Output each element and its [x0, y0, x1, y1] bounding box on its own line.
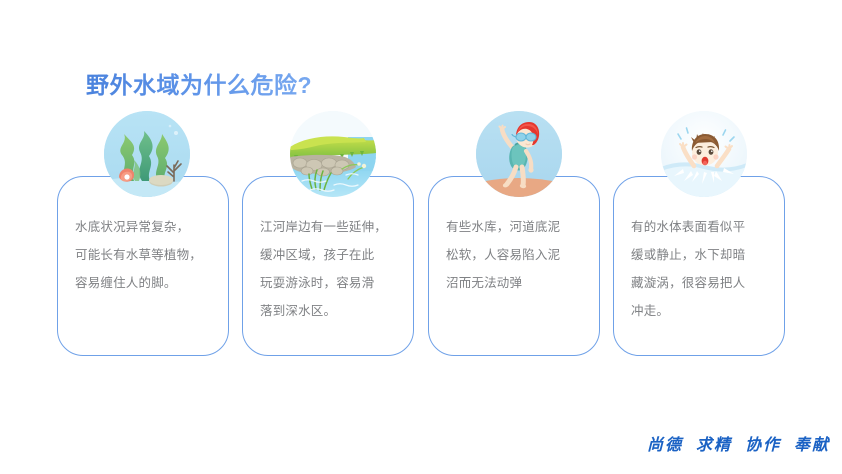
- footer-motto-word-2: 求精: [696, 437, 732, 454]
- card-riverbank-text: 江河岸边有一些延伸， 缓冲区域，孩子在此 玩耍游泳时，容易滑 落到深水区。: [260, 213, 401, 325]
- slide-canvas: 野外水域为什么危险? 水底状况异常复杂， 可能长有水草等植物， 容易缠住人的脚。: [0, 0, 842, 474]
- footer-motto-word-3: 协作: [745, 437, 781, 454]
- footer-motto-word-1: 尚德: [647, 437, 683, 454]
- diving-swimmer-icon: [476, 111, 562, 197]
- footer-motto: 尚德 求精 协作 奉献: [640, 431, 822, 457]
- card-mud-text: 有些水库，河道底泥 松软，人容易陷入泥 沼而无法动弹: [446, 213, 587, 297]
- card-mud[interactable]: 有些水库，河道底泥 松软，人容易陷入泥 沼而无法动弹: [428, 176, 600, 356]
- danger-card-list: 水底状况异常复杂， 可能长有水草等植物， 容易缠住人的脚。: [0, 0, 842, 474]
- riverbank-slope-icon: [290, 111, 376, 197]
- seaweed-underwater-icon: [104, 111, 190, 197]
- card-seaweed-text: 水底状况异常复杂， 可能长有水草等植物， 容易缠住人的脚。: [75, 213, 216, 297]
- drowning-child-icon: [661, 111, 747, 197]
- card-whirlpool-text: 有的水体表面看似平 缓或静止，水下却暗 藏漩涡，很容易把人 冲走。: [631, 213, 772, 325]
- footer-motto-word-4: 奉献: [794, 437, 830, 454]
- card-seaweed[interactable]: 水底状况异常复杂， 可能长有水草等植物， 容易缠住人的脚。: [57, 176, 229, 356]
- card-whirlpool[interactable]: 有的水体表面看似平 缓或静止，水下却暗 藏漩涡，很容易把人 冲走。: [613, 176, 785, 356]
- card-riverbank[interactable]: 江河岸边有一些延伸， 缓冲区域，孩子在此 玩耍游泳时，容易滑 落到深水区。: [242, 176, 414, 356]
